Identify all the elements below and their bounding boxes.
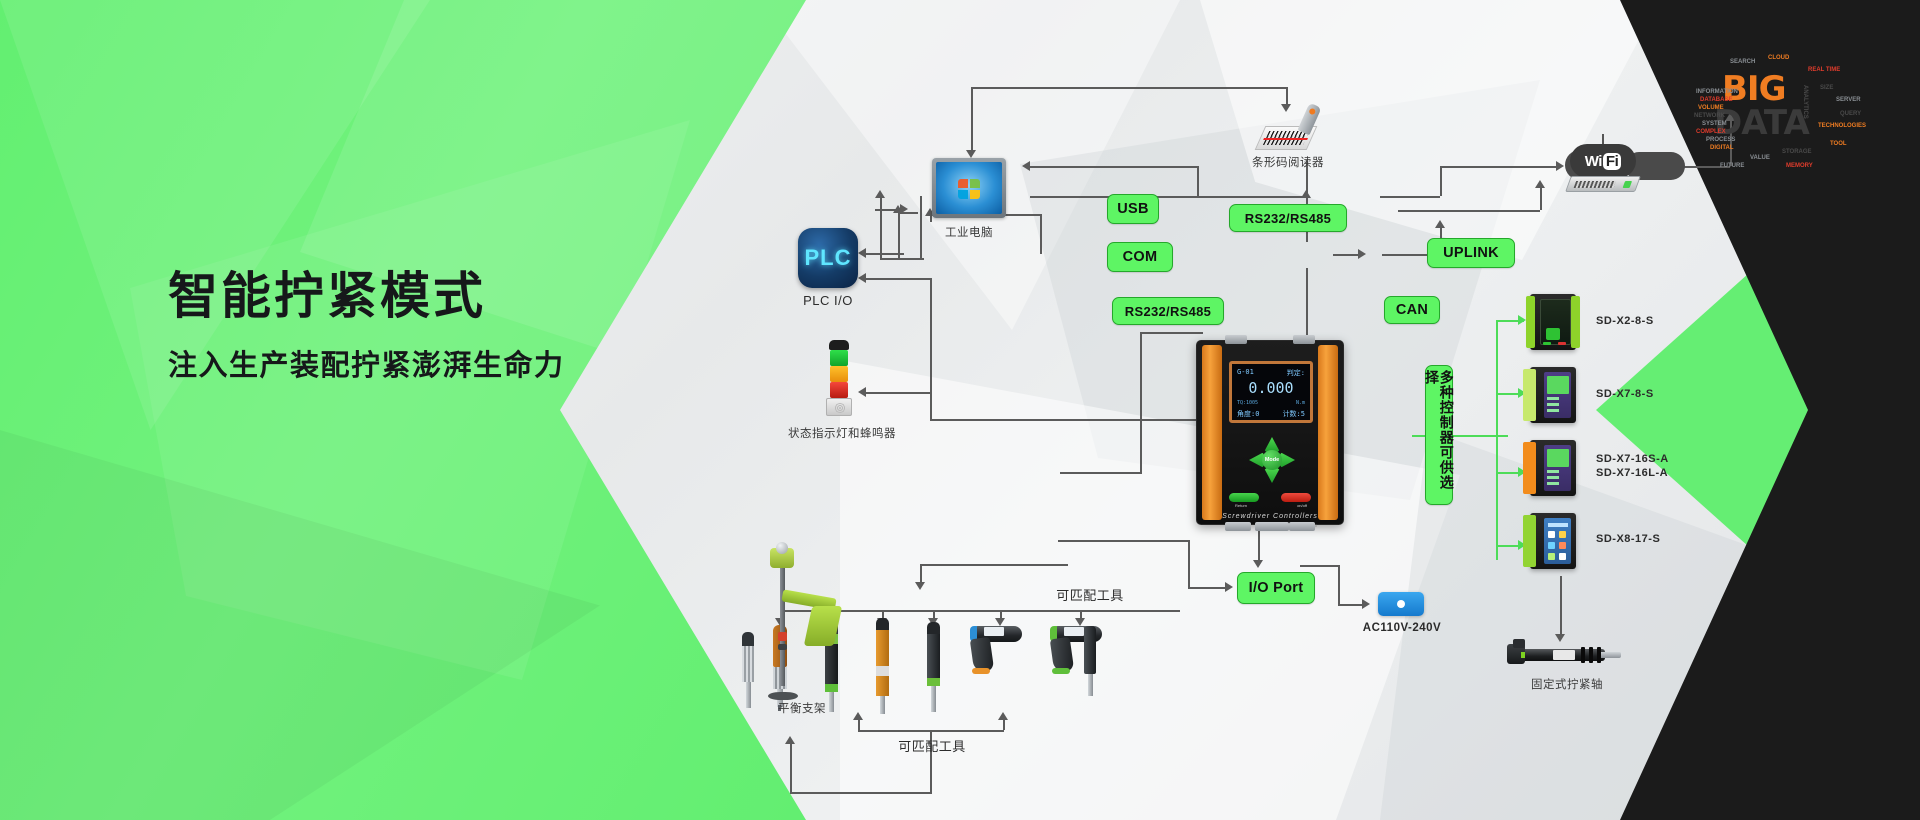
tag-rs232-top[interactable]: RS232/RS485: [1229, 204, 1347, 232]
line-plc-fb-v: [930, 278, 932, 419]
hero-title: 智能拧紧模式: [168, 268, 565, 326]
line-com-riser: [1040, 214, 1042, 254]
controller-model-sd-x2-8-s[interactable]: [1530, 294, 1576, 350]
arrow-com-can: [1358, 249, 1366, 259]
dpad-right-button[interactable]: [1280, 452, 1295, 468]
tag-multi-controller[interactable]: 多种控制器可供选择: [1425, 365, 1453, 505]
label-sd-x7-16s-a: SD-X7-16S-A: [1596, 453, 1669, 465]
line-tower-h: [866, 392, 930, 394]
label-sd-x8-17-s: SD-X8-17-S: [1596, 533, 1660, 545]
controller-lcd: G-01 判定: 0.000 TQ:1005 N.m 角度:0 计数:5: [1229, 361, 1313, 423]
controller-rail-right: [1318, 345, 1338, 520]
tag-usb[interactable]: USB: [1107, 194, 1159, 224]
label-sd-x2-8-s: SD-X2-8-S: [1596, 315, 1654, 327]
line-uplink-wifi-h: [1430, 210, 1540, 212]
matched-tools-label-bottom: 可匹配工具: [878, 736, 986, 755]
onoff-button-label: on/off: [1297, 503, 1307, 508]
barcode-reader-icon: [1258, 108, 1320, 150]
controller-model-sd-x8-17-s[interactable]: [1530, 513, 1576, 569]
return-button-label: Return: [1235, 503, 1247, 508]
barcode-reader[interactable]: [1258, 108, 1320, 150]
tool-screwdriver-4[interactable]: [919, 622, 947, 714]
line-balancer-up: [790, 742, 792, 792]
line-pc-top-v: [971, 87, 973, 155]
arrow-to-wifi: [1556, 161, 1564, 171]
industrial-pc[interactable]: [932, 158, 1006, 218]
line-io-in-h: [1188, 587, 1230, 589]
line-ctrl-left-h: [1140, 332, 1203, 334]
tag-io-port[interactable]: I/O Port: [1237, 572, 1315, 604]
arrow-can-uplink: [1435, 220, 1445, 228]
arrow-tower: [858, 387, 866, 397]
tool-screwdriver-3[interactable]: [868, 618, 896, 714]
green-line-spine: [1496, 320, 1498, 560]
dpad-down-button[interactable]: [1264, 468, 1280, 483]
arrow-into-usb: [900, 204, 908, 214]
controller-rail-left: [1202, 345, 1222, 520]
line-into-uplink: [1398, 210, 1430, 212]
line-usb-up: [898, 212, 900, 258]
dpad-mode-button[interactable]: Mode: [1262, 450, 1282, 470]
tag-can[interactable]: CAN: [1384, 296, 1440, 324]
line-toolbus-top: [920, 564, 1068, 566]
power-supply-label: AC110V-240V: [1352, 622, 1452, 634]
arrow-io-in: [1225, 582, 1233, 592]
balance-stand-icon: [762, 540, 842, 700]
balance-stand-label: 平衡支架: [746, 700, 858, 716]
line-com-controller: [1306, 268, 1308, 340]
return-button[interactable]: [1229, 493, 1259, 502]
matched-tools-label-top: 可匹配工具: [1030, 585, 1150, 604]
arrow-io-down: [1253, 560, 1263, 568]
fixed-spindle[interactable]: [1505, 642, 1621, 668]
hero-banner: 智能拧紧模式 注入生产装配拧紧澎湃生命力: [0, 0, 1920, 820]
status-tower-icon: [826, 340, 852, 416]
line-io-ac-h: [1300, 565, 1338, 567]
controller-brand: Screwdriver Controllers: [1197, 513, 1343, 520]
label-sd-x7-16l-a: SD-X7-16L-A: [1596, 467, 1668, 479]
lcd-judge-label: 判定:: [1287, 368, 1305, 378]
tag-rs232-left[interactable]: RS232/RS485: [1112, 297, 1224, 325]
controller-port-top-right: [1293, 335, 1315, 344]
tool-angle-1[interactable]: [1078, 626, 1102, 704]
pistol-tool-icon: [966, 624, 1024, 682]
arrow-uplink-wifi: [1535, 180, 1545, 188]
line-pc-right-h: [1030, 166, 1198, 168]
arrow-com-up: [1301, 190, 1311, 198]
wifi-router[interactable]: WiFi: [1564, 144, 1642, 198]
controller-dpad[interactable]: Mode: [1249, 437, 1295, 483]
line-io-ac-v: [1338, 565, 1340, 604]
hero-subtitle: 注入生产装配拧紧澎湃生命力: [168, 342, 565, 384]
lcd-value: 0.000: [1237, 379, 1305, 397]
status-light-tower[interactable]: [826, 340, 852, 416]
line-pc-usb-vert: [880, 196, 882, 258]
controller-port-top-left: [1225, 335, 1247, 344]
plc-icon: PLC: [798, 228, 858, 288]
line-pc-usb-left: [880, 258, 924, 260]
arrow-balancer: [785, 736, 795, 744]
line-io-in-top: [1058, 540, 1190, 542]
tag-uplink[interactable]: UPLINK: [1427, 238, 1515, 268]
line-io-v: [1258, 526, 1260, 564]
arrow-rs232-plc: [858, 248, 866, 258]
controller-port-left: [1225, 522, 1251, 531]
power-supply[interactable]: [1378, 592, 1424, 616]
barcode-reader-label: 条形码阅读器: [1228, 154, 1348, 170]
line-plc-fb-h: [866, 278, 930, 280]
lcd-angle: 角度:0: [1237, 409, 1259, 419]
line-to-wifi-h: [1440, 166, 1560, 168]
line-rs232-right: [1380, 196, 1440, 198]
onoff-button[interactable]: [1281, 493, 1311, 502]
wifi-icon: WiFi: [1564, 144, 1642, 198]
arrow-toolbus: [915, 582, 925, 590]
big-data-wordcloud: BIG DATA INFORMATION DATABASE VOLUME NET…: [1690, 45, 1880, 185]
fixed-spindle-label: 固定式拧紧轴: [1512, 676, 1622, 692]
lcd-torque-code: TQ:1005: [1237, 400, 1258, 406]
arrow-pc-bottom: [875, 190, 885, 198]
line-uplink-wifi-v: [1540, 186, 1542, 210]
line-io-in-v: [1188, 540, 1190, 587]
hero-text-block: 智能拧紧模式 注入生产装配拧紧澎湃生命力: [168, 268, 565, 384]
line-top-bus: [971, 87, 1287, 89]
status-light-label: 状态指示灯和蜂鸣器: [782, 425, 902, 441]
line-ctrl-left-b: [1060, 472, 1142, 474]
controller-model-sd-x7-16-a[interactable]: [1530, 440, 1576, 496]
lcd-group: G-01: [1237, 368, 1254, 378]
main-controller[interactable]: G-01 判定: 0.000 TQ:1005 N.m 角度:0 计数:5 Mod…: [1196, 340, 1344, 525]
label-sd-x7-8-s: SD-X7-8-S: [1596, 388, 1654, 400]
line-rs232-to-pc-h: [1030, 196, 1305, 198]
arrow-plc-fb: [858, 273, 866, 283]
arrow-to-pc-top: [966, 150, 976, 158]
lcd-count: 计数:5: [1283, 409, 1305, 419]
line-bottom-return: [790, 792, 932, 794]
lcd-unit: N.m: [1296, 400, 1305, 406]
industrial-pc-label: 工业电脑: [912, 224, 1026, 240]
arrow-to-ac: [1362, 599, 1370, 609]
monitor-icon: [932, 158, 1006, 218]
arrow-to-pc-right: [1022, 161, 1030, 171]
line-rs232-up: [1440, 166, 1442, 196]
plc-io-node[interactable]: PLC: [798, 228, 858, 288]
tag-com[interactable]: COM: [1107, 242, 1173, 272]
spindle-icon: [1505, 642, 1621, 668]
line-rs232-plc: [866, 253, 904, 255]
controller-model-sd-x7-8-s[interactable]: [1530, 367, 1576, 423]
green-arrow-1: [1518, 315, 1526, 325]
line-ctrl-left-v: [1140, 332, 1142, 472]
controller-port-mid: [1255, 522, 1289, 531]
arrow-bracket-r: [998, 712, 1008, 720]
line-spindle-v: [1560, 576, 1562, 638]
arrow-spindle: [1555, 634, 1565, 642]
plc-io-label: PLC I/O: [778, 293, 878, 308]
controller-port-right: [1289, 522, 1315, 531]
line-rs232-vert: [1197, 166, 1199, 196]
